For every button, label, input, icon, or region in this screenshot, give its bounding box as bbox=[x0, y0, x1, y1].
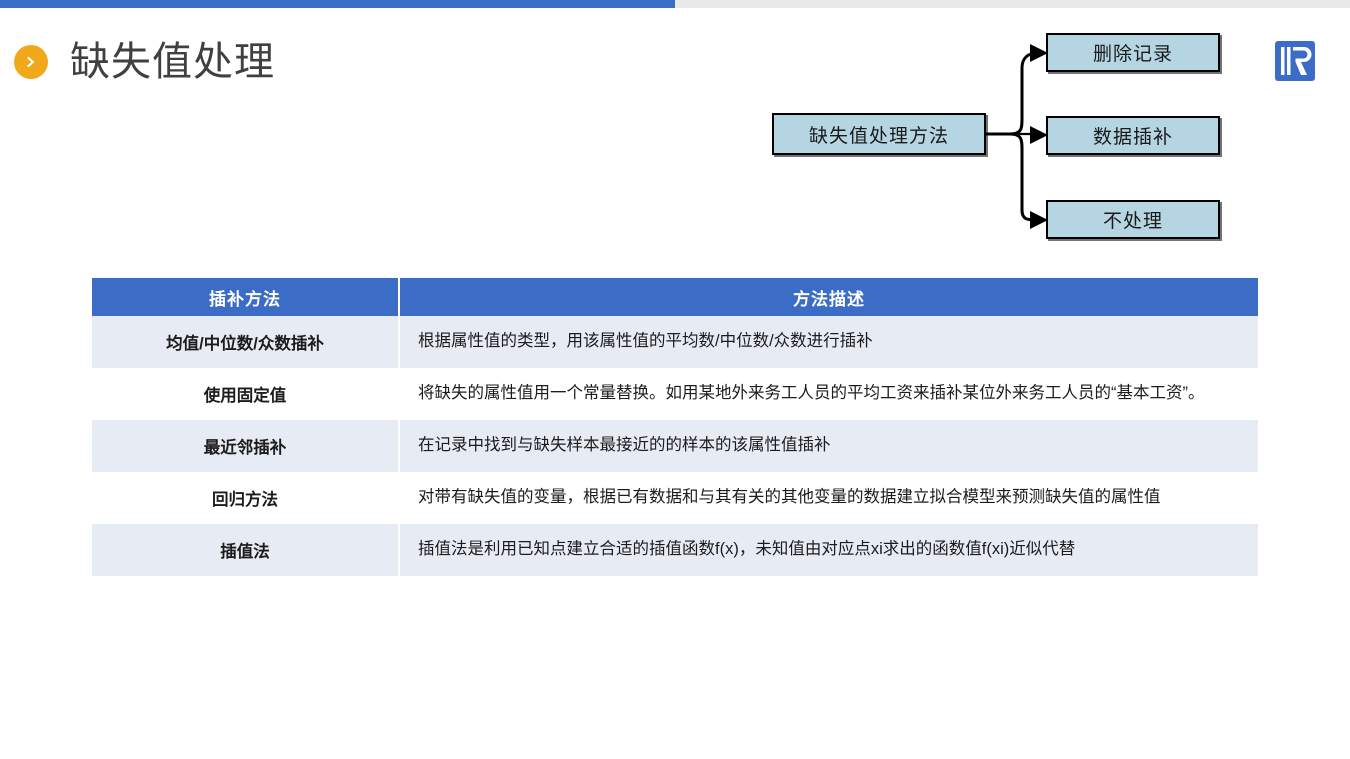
slide-title-row: 缺失值处理 bbox=[14, 34, 275, 90]
table-row: 最近邻插补 在记录中找到与缺失样本最接近的的样本的该属性值插补 bbox=[92, 420, 1258, 472]
table-row: 使用固定值 将缺失的属性值用一个常量替换。如用某地外来务工人员的平均工资来插补某… bbox=[92, 368, 1258, 420]
flow-node-delete-record: 删除记录 bbox=[1046, 33, 1220, 72]
cell-description: 插值法是利用已知点建立合适的插值函数f(x)，未知值由对应点xi求出的函数值f(… bbox=[399, 524, 1258, 576]
cell-method: 插值法 bbox=[92, 524, 399, 576]
cell-description: 根据属性值的类型，用该属性值的平均数/中位数/众数进行插补 bbox=[399, 316, 1258, 368]
cell-description: 将缺失的属性值用一个常量替换。如用某地外来务工人员的平均工资来插补某位外来务工人… bbox=[399, 368, 1258, 420]
flowchart: 缺失值处理方法 删除记录 数据插补 不处理 bbox=[760, 20, 1250, 255]
chevron-right-circle-icon bbox=[14, 45, 48, 79]
page-title: 缺失值处理 bbox=[70, 42, 275, 82]
cell-description: 在记录中找到与缺失样本最接近的的样本的该属性值插补 bbox=[399, 420, 1258, 472]
slide-progress-fill bbox=[0, 0, 675, 8]
brand-r-logo-icon bbox=[1272, 38, 1318, 84]
cell-method: 最近邻插补 bbox=[92, 420, 399, 472]
cell-method: 回归方法 bbox=[92, 472, 399, 524]
imputation-methods-table: 插补方法 方法描述 均值/中位数/众数插补 根据属性值的类型，用该属性值的平均数… bbox=[92, 278, 1258, 576]
slide-progress-track bbox=[0, 0, 1350, 8]
flow-node-root: 缺失值处理方法 bbox=[772, 113, 986, 155]
table-row: 插值法 插值法是利用已知点建立合适的插值函数f(x)，未知值由对应点xi求出的函… bbox=[92, 524, 1258, 576]
table-row: 回归方法 对带有缺失值的变量，根据已有数据和与其有关的其他变量的数据建立拟合模型… bbox=[92, 472, 1258, 524]
column-header-description: 方法描述 bbox=[399, 278, 1258, 316]
table-row: 均值/中位数/众数插补 根据属性值的类型，用该属性值的平均数/中位数/众数进行插… bbox=[92, 316, 1258, 368]
column-header-method: 插补方法 bbox=[92, 278, 399, 316]
table-header-row: 插补方法 方法描述 bbox=[92, 278, 1258, 316]
cell-method: 均值/中位数/众数插补 bbox=[92, 316, 399, 368]
cell-description: 对带有缺失值的变量，根据已有数据和与其有关的其他变量的数据建立拟合模型来预测缺失… bbox=[399, 472, 1258, 524]
cell-method: 使用固定值 bbox=[92, 368, 399, 420]
flow-node-no-handling: 不处理 bbox=[1046, 200, 1220, 239]
flow-node-data-imputation: 数据插补 bbox=[1046, 116, 1220, 155]
